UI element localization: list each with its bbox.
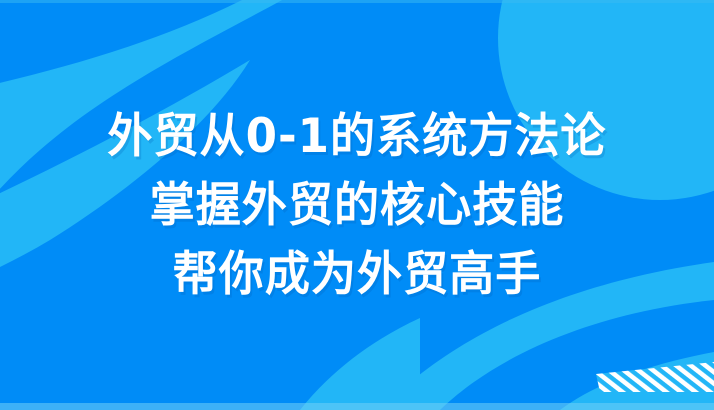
headline-line-2: 掌握外贸的核心技能 [150,182,565,229]
course-promo-banner: 外贸从0-1的系统方法论 掌握外贸的核心技能 帮你成为外贸高手 [0,0,714,410]
headline-line-3: 帮你成为外贸高手 [173,251,542,298]
headline-stack: 外贸从0-1的系统方法论 掌握外贸的核心技能 帮你成为外贸高手 [0,0,714,410]
headline-line-1: 外贸从0-1的系统方法论 [107,113,606,160]
